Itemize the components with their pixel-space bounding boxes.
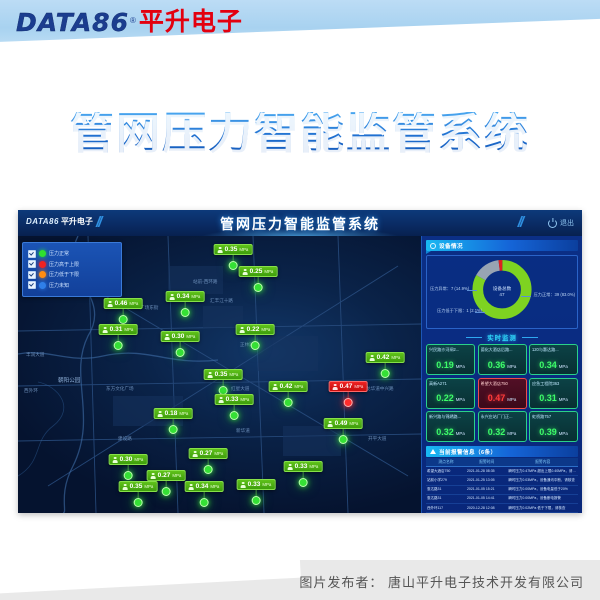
realtime-card-number: 0.32 (488, 427, 506, 437)
power-icon (548, 219, 557, 228)
gear-icon (430, 243, 436, 249)
pressure-sensor-icon (193, 451, 198, 457)
pressure-sensor-icon (165, 334, 170, 340)
pressure-sensor-icon (273, 384, 278, 390)
alarm-cell-name: 希望大酒店750 (426, 467, 466, 475)
marker-point[interactable] (124, 471, 133, 480)
legend-status-dot-icon (39, 282, 46, 289)
marker-badge[interactable]: 0.42MPa (366, 352, 405, 363)
exit-button[interactable]: 退出 (548, 218, 574, 228)
marker-badge[interactable]: 0.31MPa (99, 324, 138, 335)
marker-unit: MPa (309, 464, 318, 469)
pressure-sensor-icon (123, 484, 128, 490)
alarm-table-title: 当前报警信息（6条） (439, 448, 496, 456)
marker-value: 0.42 (280, 383, 293, 390)
realtime-card-value: 0.31MPa (532, 388, 575, 406)
marker-unit: MPa (354, 384, 363, 389)
alarm-table-row[interactable]: 站前小学2792021-01-25 13:05瞬时压力0.03MPa，设备通讯中… (426, 476, 578, 485)
realtime-card-name: 兴民路沙河闸2... (429, 347, 472, 353)
pressure-sensor-icon (243, 269, 248, 275)
realtime-card-unit: MPa (507, 364, 516, 369)
map-place-label: 新华道 (236, 428, 250, 434)
marker-value: 0.34 (177, 293, 190, 300)
legend-label: 压力高于上限 (49, 261, 79, 268)
marker-unit: MPa (264, 269, 273, 274)
alarm-cell-content: 瞬时压力0.47MPa 超出上限0.40MPa，请核查处理 (507, 467, 578, 475)
right-panel: 设备情况 设备总数 47 压力异常：7 (14.9%) 压力低于下限：1 (2.… (421, 236, 582, 513)
warning-icon (430, 449, 436, 454)
realtime-card-number: 0.34 (539, 360, 557, 370)
realtime-card[interactable]: 虹桥路7570.39MPa (529, 411, 578, 442)
alarm-table-body: 希望大酒店7502021-01-28 08:35瞬时压力0.47MPa 超出上限… (426, 467, 578, 513)
marker-point[interactable] (251, 341, 260, 350)
marker-unit: MPa (186, 334, 195, 339)
map-marker[interactable]: 0.33MPa (215, 394, 254, 420)
marker-value: 0.35 (225, 246, 238, 253)
screenshot-root: DATA86 ® 平升电子 管网压力智能监管系统 DATA86 平升电子 // … (0, 0, 600, 600)
alarm-cell-content: 瞬时压力0.00MPa，设备电量低于20% (507, 486, 578, 494)
top-banner: DATA86 ® 平升电子 (0, 0, 600, 62)
map-marker[interactable]: 0.33MPa (284, 461, 323, 487)
brand-logo: DATA86 ® 平升电子 (16, 10, 243, 35)
realtime-card-name: 希望大酒店750 (481, 381, 524, 387)
exit-label: 退出 (560, 218, 574, 228)
alarm-cell-name: 惠达路31 (426, 495, 466, 503)
marker-badge[interactable]: 0.33MPa (284, 461, 323, 472)
map-marker[interactable]: 0.30MPa (161, 331, 200, 357)
map-marker[interactable]: 0.27MPa (189, 448, 228, 474)
pressure-sensor-icon (103, 327, 108, 333)
map-marker[interactable]: 0.22MPa (236, 324, 275, 350)
marker-point[interactable] (176, 348, 185, 357)
marker-unit: MPa (240, 397, 249, 402)
realtime-card-unit: MPa (507, 431, 516, 436)
alarm-cell-name: 站前小学279 (426, 476, 466, 484)
realtime-title: 实时监测 (487, 333, 517, 342)
realtime-card-number: 0.32 (436, 427, 454, 437)
marker-badge[interactable]: 0.35MPa (204, 369, 243, 380)
marker-unit: MPa (210, 484, 219, 489)
map-place-label: 广场东街 (140, 305, 158, 311)
marker-unit: MPa (391, 355, 400, 360)
realtime-card-unit: MPa (456, 431, 465, 436)
legend-status-dot-icon (39, 261, 46, 268)
alarm-col-time: 报警时间 (466, 458, 507, 466)
realtime-card-unit: MPa (456, 364, 465, 369)
pressure-sensor-icon (370, 355, 375, 361)
legend-checkbox[interactable] (28, 281, 36, 289)
marker-value: 0.35 (215, 371, 228, 378)
marker-point[interactable] (299, 478, 308, 487)
map-marker[interactable]: 0.31MPa (99, 324, 138, 350)
realtime-card-unit: MPa (559, 397, 568, 402)
marker-point[interactable] (339, 435, 348, 444)
realtime-card-number: 0.36 (488, 360, 506, 370)
map-place-label: 东方文化广场 (106, 386, 134, 392)
realtime-card-value: 0.39MPa (532, 422, 575, 440)
marker-badge[interactable]: 0.27MPa (147, 470, 186, 481)
realtime-card-unit: MPa (507, 397, 516, 402)
marker-unit: MPa (129, 301, 138, 306)
realtime-card-grid: 兴民路沙河闸2...0.19MPa德化大酒店后路...0.36MPa120与惠达… (426, 344, 578, 442)
donut-leader-3 (521, 296, 531, 297)
alarm-cell-content: 瞬时压力0.00MPa，设备断电报警 (507, 495, 578, 503)
donut-label-low: 压力低于下限：1 (2.1%) (437, 308, 482, 314)
marker-value: 0.33 (295, 463, 308, 470)
map-place-label: 龙华道中兴路 (366, 386, 394, 392)
marker-point[interactable] (254, 283, 263, 292)
map-marker[interactable]: 0.49MPa (324, 418, 363, 444)
pressure-sensor-icon (333, 384, 338, 390)
marker-badge[interactable]: 0.30MPa (161, 331, 200, 342)
marker-point[interactable] (230, 411, 239, 420)
alarm-table-row[interactable]: 惠达路312021-01-05 15:21瞬时压力0.00MPa，设备电量低于2… (426, 486, 578, 495)
marker-value: 0.47 (340, 383, 353, 390)
legend-item-0[interactable]: 压力正常 (28, 250, 118, 258)
marker-value: 0.27 (200, 450, 213, 457)
realtime-card[interactable]: 新兴路与锦绣路...0.32MPa (426, 411, 475, 442)
legend-item-3[interactable]: 压力未知 (28, 281, 118, 289)
marker-point[interactable] (162, 487, 171, 496)
map-marker[interactable]: 0.47MPa (329, 381, 368, 407)
marker-value: 0.25 (250, 268, 263, 275)
pressure-sensor-icon (328, 421, 333, 427)
realtime-card[interactable]: 高新A2710.22MPa (426, 378, 475, 409)
dashboard-title: 管网压力智能监管系统 (220, 214, 380, 234)
marker-unit: MPa (294, 384, 303, 389)
legend-label: 压力未知 (49, 282, 69, 289)
realtime-card[interactable]: 永兴庄站厂门正...0.32MPa (478, 411, 527, 442)
pressure-sensor-icon (158, 411, 163, 417)
marker-point[interactable] (134, 498, 143, 507)
marker-unit: MPa (349, 421, 358, 426)
marker-unit: MPa (134, 457, 143, 462)
caption-rule-left (466, 337, 482, 339)
donut-label-normal: 压力正常：39 (83.0%) (534, 292, 575, 298)
marker-badge[interactable]: 0.49MPa (324, 418, 363, 429)
dashboard-logo-en: DATA86 (26, 217, 59, 226)
realtime-card-value: 0.34MPa (532, 355, 575, 373)
alarm-cell-time: 2021-01-25 13:05 (466, 476, 507, 484)
marker-value: 0.30 (172, 333, 185, 340)
realtime-card-name: 虹桥路757 (532, 414, 575, 420)
realtime-card-number: 0.22 (436, 393, 454, 403)
dashboard-header: DATA86 平升电子 // // 管网压力智能监管系统 退出 (18, 210, 582, 237)
marker-point[interactable] (200, 498, 209, 507)
map-canvas[interactable]: 朝阳公园站前-西环路汇丰江十路广场东街正林路东方文化广场红星大道新华道建设路龙华… (18, 236, 422, 513)
registered-mark-icon: ® (130, 16, 136, 25)
pressure-sensor-icon (241, 482, 246, 488)
map-marker[interactable]: 0.25MPa (239, 266, 278, 292)
caption-rule-right (522, 337, 538, 339)
pressure-sensor-icon (113, 457, 118, 463)
map-marker[interactable]: 0.35MPa (119, 481, 158, 507)
donut-center-label: 设备总数 47 (493, 286, 511, 298)
alarm-cell-time: 2021-01-05 15:21 (466, 486, 507, 494)
realtime-card[interactable]: 德化大酒店后路...0.36MPa (478, 344, 527, 375)
pressure-sensor-icon (108, 301, 113, 307)
legend-item-2[interactable]: 压力低于下限 (28, 271, 118, 279)
realtime-card-unit: MPa (559, 364, 568, 369)
realtime-caption: 实时监测 (426, 333, 578, 342)
pressure-sensor-icon (240, 327, 245, 333)
pressure-sensor-icon (288, 464, 293, 470)
marker-badge[interactable]: 0.35MPa (119, 481, 158, 492)
map-place-label: 丰润大道 (26, 352, 44, 358)
dashboard-logo: DATA86 平升电子 (26, 216, 93, 227)
donut-leader-1 (467, 290, 477, 291)
pressure-sensor-icon (219, 397, 224, 403)
brand-logo-en: DATA86 (16, 10, 129, 35)
marker-unit: MPa (261, 327, 270, 332)
marker-value: 0.35 (130, 483, 143, 490)
map-place-label: 开平大道 (368, 436, 386, 442)
legend-rows: 压力正常压力高于上限压力低于下限压力未知 (26, 250, 118, 290)
dashboard-screenshot: DATA86 平升电子 // // 管网压力智能监管系统 退出 (18, 210, 582, 513)
marker-badge[interactable]: 0.22MPa (236, 324, 275, 335)
map-marker[interactable]: 0.42MPa (269, 381, 308, 407)
marker-badge[interactable]: 0.27MPa (189, 448, 228, 459)
legend-checkbox[interactable] (28, 260, 36, 268)
map-place-label: 站前-西环路 (193, 279, 218, 285)
marker-point[interactable] (344, 398, 353, 407)
marker-unit: MPa (229, 372, 238, 377)
alarm-cell-content: 瞬时压力0.03MPa，设备通讯中断，请核查 (507, 476, 578, 484)
alarm-cell-time: 2021-01-05 14:41 (466, 495, 507, 503)
realtime-card[interactable]: 应急工程院3630.31MPa (529, 378, 578, 409)
marker-point[interactable] (169, 425, 178, 434)
map-place-label: 汇丰江十路 (210, 298, 233, 304)
marker-badge[interactable]: 0.42MPa (269, 381, 308, 392)
map-marker[interactable]: 0.30MPa (109, 454, 148, 480)
marker-unit: MPa (144, 484, 153, 489)
footer-text: 图片发布者： 唐山平升电子技术开发有限公司 (299, 572, 584, 591)
realtime-card[interactable]: 希望大酒店7500.47MPa (478, 378, 527, 409)
legend-checkbox[interactable] (28, 250, 36, 258)
pressure-sensor-icon (170, 294, 175, 300)
marker-badge[interactable]: 0.30MPa (109, 454, 148, 465)
realtime-card-name: 应急工程院363 (532, 381, 575, 387)
realtime-card-value: 0.32MPa (429, 422, 472, 440)
legend-status-dot-icon (39, 250, 46, 257)
marker-point[interactable] (114, 341, 123, 350)
marker-value: 0.33 (226, 396, 239, 403)
donut-center-value: 47 (493, 292, 511, 298)
marker-badge[interactable]: 0.18MPa (154, 408, 193, 419)
marker-point[interactable] (381, 369, 390, 378)
realtime-card-unit: MPa (456, 397, 465, 402)
marker-badge[interactable]: 0.33MPa (237, 479, 276, 490)
dashboard-logo-cn: 平升电子 (61, 216, 93, 227)
marker-unit: MPa (239, 247, 248, 252)
marker-value: 0.49 (335, 420, 348, 427)
realtime-card-name: 永兴庄站厂门正... (481, 414, 524, 420)
map-marker[interactable]: 0.33MPa (237, 479, 276, 505)
marker-badge[interactable]: 0.34MPa (166, 291, 205, 302)
realtime-card-name: 高新A271 (429, 381, 472, 387)
marker-point[interactable] (284, 398, 293, 407)
legend-checkbox[interactable] (28, 271, 36, 279)
marker-unit: MPa (214, 451, 223, 456)
marker-badge[interactable]: 0.34MPa (185, 481, 224, 492)
map-marker[interactable]: 0.34MPa (185, 481, 224, 507)
device-status-title: 设备情况 (439, 242, 463, 250)
marker-point[interactable] (204, 465, 213, 474)
alarm-cell-name: 惠达路31 (426, 486, 466, 494)
marker-value: 0.22 (247, 326, 260, 333)
alarm-col-name: 测点名称 (426, 458, 466, 466)
realtime-card-value: 0.19MPa (429, 355, 472, 373)
marker-point[interactable] (229, 261, 238, 270)
alarm-cell-content: 瞬时压力0.02MPa 低于下限，请核查 (507, 504, 578, 512)
alarm-cell-time: 2021-01-28 08:35 (466, 467, 507, 475)
realtime-card-number: 0.47 (488, 393, 506, 403)
alarm-table-row[interactable]: 希望大酒店7502021-01-28 08:35瞬时压力0.47MPa 超出上限… (426, 467, 578, 476)
map-marker[interactable]: 0.35MPa (204, 369, 243, 395)
marker-badge[interactable]: 0.25MPa (239, 266, 278, 277)
map-marker[interactable]: 0.18MPa (154, 408, 193, 434)
marker-value: 0.27 (158, 472, 171, 479)
donut-label-abnormal: 压力异常：7 (14.9%) (430, 286, 469, 292)
device-status-chart: 设备总数 47 压力异常：7 (14.9%) 压力低于下限：1 (2.1%) 压… (426, 255, 578, 329)
map-marker[interactable]: 0.34MPa (166, 291, 205, 317)
page-title: 管网压力智能监管系统 (0, 112, 600, 156)
brand-logo-cn: 平升电子 (139, 10, 243, 35)
map-place-label: 朝阳公园 (58, 376, 80, 384)
marker-value: 0.34 (196, 483, 209, 490)
realtime-card-name: 120与惠达路... (532, 347, 575, 353)
realtime-card-name: 新兴路与锦绣路... (429, 414, 472, 420)
marker-unit: MPa (262, 482, 271, 487)
legend-item-1[interactable]: 压力高于上限 (28, 260, 118, 268)
marker-badge[interactable]: 0.47MPa (329, 381, 368, 392)
realtime-card-value: 0.47MPa (481, 388, 524, 406)
legend-status-dot-icon (39, 271, 46, 278)
marker-value: 0.30 (120, 456, 133, 463)
map-place-label: 建设路 (118, 436, 132, 442)
map-place-label: 西外环 (24, 388, 38, 394)
realtime-card[interactable]: 兴民路沙河闸2...0.19MPa (426, 344, 475, 375)
marker-badge[interactable]: 0.46MPa (104, 298, 143, 309)
alarm-table-header: 测点名称 报警时间 报警内容 (426, 458, 578, 467)
map-legend: 压力正常压力高于上限压力低于下限压力未知 (22, 242, 122, 297)
realtime-card-name: 德化大酒店后路... (481, 347, 524, 353)
alarm-table-row[interactable]: 西外环1172020-12-28 12:08瞬时压力0.02MPa 低于下限，请… (426, 504, 578, 513)
alarm-col-content: 报警内容 (507, 458, 578, 466)
marker-unit: MPa (191, 294, 200, 299)
marker-value: 0.42 (377, 354, 390, 361)
pressure-sensor-icon (218, 247, 223, 253)
marker-badge[interactable]: 0.33MPa (215, 394, 254, 405)
pressure-sensor-icon (151, 473, 156, 479)
marker-value: 0.33 (248, 481, 261, 488)
header-slash-left-icon: // (96, 214, 100, 231)
marker-point[interactable] (252, 496, 261, 505)
alarm-table[interactable]: 测点名称 报警时间 报警内容 希望大酒店7502021-01-28 08:35瞬… (426, 458, 578, 513)
header-slash-right-icon: // (518, 214, 522, 231)
legend-label: 压力正常 (49, 250, 69, 257)
alarm-cell-time: 2020-12-28 12:08 (466, 504, 507, 512)
map-marker[interactable]: 0.42MPa (366, 352, 405, 378)
legend-label: 压力低于下限 (49, 271, 79, 278)
donut-leader-2 (475, 312, 485, 313)
marker-value: 0.18 (165, 410, 178, 417)
realtime-card-number: 0.31 (539, 393, 557, 403)
marker-badge[interactable]: 0.35MPa (214, 244, 253, 255)
marker-value: 0.31 (110, 326, 123, 333)
marker-unit: MPa (124, 327, 133, 332)
realtime-card-value: 0.36MPa (481, 355, 524, 373)
marker-unit: MPa (179, 411, 188, 416)
realtime-card-number: 0.39 (539, 427, 557, 437)
device-status-caption: 设备情况 (426, 240, 578, 251)
marker-point[interactable] (119, 315, 128, 324)
marker-point[interactable] (181, 308, 190, 317)
realtime-card-unit: MPa (559, 431, 568, 436)
alarm-cell-name: 西外环117 (426, 504, 466, 512)
marker-unit: MPa (172, 473, 181, 478)
pressure-sensor-icon (189, 484, 194, 490)
realtime-card-number: 0.19 (436, 360, 454, 370)
pressure-sensor-icon (208, 372, 213, 378)
alarm-table-row[interactable]: 惠达路312021-01-05 14:41瞬时压力0.00MPa，设备断电报警 (426, 495, 578, 504)
alarm-table-caption: 当前报警信息（6条） (426, 446, 578, 457)
realtime-card-value: 0.22MPa (429, 388, 472, 406)
map-marker[interactable]: 0.46MPa (104, 298, 143, 324)
realtime-card-value: 0.32MPa (481, 422, 524, 440)
marker-value: 0.46 (115, 300, 128, 307)
realtime-card[interactable]: 120与惠达路...0.34MPa (529, 344, 578, 375)
footer-bar: 图片发布者： 唐山平升电子技术开发有限公司 (0, 560, 600, 600)
